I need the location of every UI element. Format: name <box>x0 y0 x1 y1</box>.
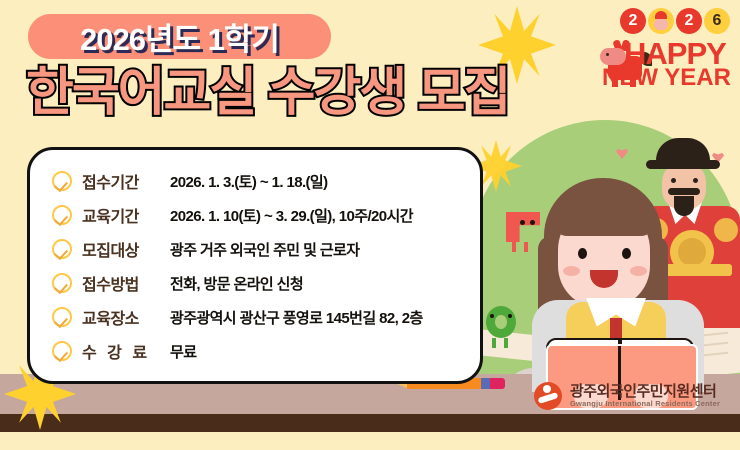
check-circle-icon <box>52 341 72 361</box>
info-label: 모집대상 <box>82 237 170 261</box>
year-2026-circles: 2 2 6 <box>620 8 730 34</box>
girl-reading-illustration <box>530 178 710 388</box>
check-circle-icon <box>52 307 72 327</box>
semester-badge-label: 2026년도 1학기 <box>80 14 279 59</box>
info-label: 접수방법 <box>82 271 170 295</box>
check-circle-icon <box>52 273 72 293</box>
gwangju-center-logo-icon <box>534 382 562 410</box>
happy-new-year-block: 2 2 6 HAPPY NEW YEAR <box>596 8 736 108</box>
year-digit-4: 6 <box>704 8 730 34</box>
info-row: 교육기간 2026. 1. 10(토) ~ 3. 29.(일), 10주/20시… <box>52 198 480 232</box>
check-circle-icon <box>52 239 72 259</box>
info-label: 교육기간 <box>82 203 170 227</box>
poster-canvas: 2026년도 1학기 한국어교실 수강생 모집 2 2 6 HAPPY NEW … <box>0 0 740 450</box>
year-digit-1: 2 <box>620 8 646 34</box>
info-label: 교육장소 <box>82 305 170 329</box>
org-name-korean: 광주외국인주민지원센터 <box>570 384 720 401</box>
horse-face-icon <box>648 8 674 34</box>
page-title: 한국어교실 수강생 모집 <box>26 62 606 124</box>
info-label: 접수기간 <box>82 169 170 193</box>
org-name-english: Gwangju International Residents Center <box>570 400 720 408</box>
info-label: 수 강 료 <box>82 339 170 363</box>
new-year-text: NEW YEAR <box>602 66 731 90</box>
info-row: 모집대상 광주 거주 외국인 주민 및 근로자 <box>52 232 480 266</box>
check-circle-icon <box>52 205 72 225</box>
info-value: 전화, 방문 온라인 신청 <box>170 273 303 294</box>
year-digit-3: 2 <box>676 8 702 34</box>
info-value: 무료 <box>170 341 196 362</box>
desk-below-strip <box>0 432 740 450</box>
info-row: 수 강 료 무료 <box>52 334 480 368</box>
organization-logo: 광주외국인주민지원센터 Gwangju International Reside… <box>534 382 720 410</box>
info-card: 접수기간 2026. 1. 3.(토) ~ 1. 18.(일) 교육기간 202… <box>27 147 483 384</box>
info-value: 2026. 1. 3.(토) ~ 1. 18.(일) <box>170 171 328 192</box>
info-row: 교육장소 광주광역시 광산구 풍영로 145번길 82, 2층 <box>52 300 480 334</box>
info-value: 광주광역시 광산구 풍영로 145번길 82, 2층 <box>170 307 423 328</box>
check-circle-icon <box>52 171 72 191</box>
info-value: 광주 거주 외국인 주민 및 근로자 <box>170 239 359 260</box>
green-number-character-icon <box>484 306 518 350</box>
info-value: 2026. 1. 10(토) ~ 3. 29.(일), 10주/20시간 <box>170 205 413 226</box>
info-row: 접수기간 2026. 1. 3.(토) ~ 1. 18.(일) <box>52 164 480 198</box>
semester-badge: 2026년도 1학기 <box>28 14 331 59</box>
desk-edge <box>0 414 740 432</box>
info-row: 접수방법 전화, 방문 온라인 신청 <box>52 266 480 300</box>
